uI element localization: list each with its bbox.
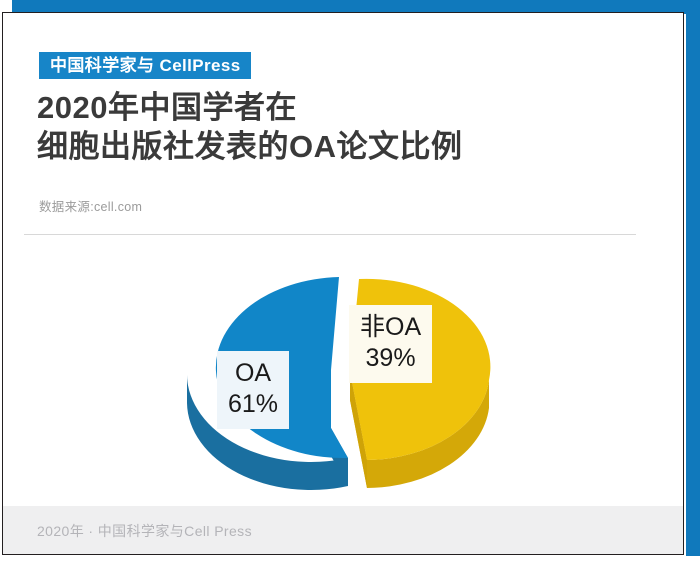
pie-chart: OA 61% 非OA 39% [181, 255, 521, 505]
infographic-page: 中国科学家与 CellPress 2020年中国学者在 细胞出版社发表的OA论文… [0, 0, 700, 567]
right-blue-band [686, 0, 700, 556]
data-source-label: 数据来源:cell.com [39, 196, 142, 215]
pie-label-nonoa: 非OA 39% [349, 305, 432, 383]
pie-label-oa-name: OA [235, 359, 271, 387]
content-card: 中国科学家与 CellPress 2020年中国学者在 细胞出版社发表的OA论文… [2, 12, 684, 555]
pie-label-nonoa-value: 39% [366, 344, 416, 372]
pie-label-oa: OA 61% [217, 351, 289, 429]
page-title-line-2: 细胞出版社发表的OA论文比例 [37, 127, 637, 166]
page-title-line-1: 2020年中国学者在 [37, 88, 637, 127]
pie-label-oa-value: 61% [228, 390, 278, 418]
chart-area: OA 61% 非OA 39% [3, 245, 681, 507]
page-title: 2020年中国学者在 细胞出版社发表的OA论文比例 [37, 88, 637, 166]
header-divider [24, 234, 636, 235]
pie-label-nonoa-name: 非OA [360, 313, 421, 341]
footer-bar: 2020年 · 中国科学家与Cell Press [3, 506, 683, 554]
brand-badge: 中国科学家与 CellPress [39, 52, 251, 79]
footer-credit: 2020年 · 中国科学家与Cell Press [37, 521, 252, 541]
